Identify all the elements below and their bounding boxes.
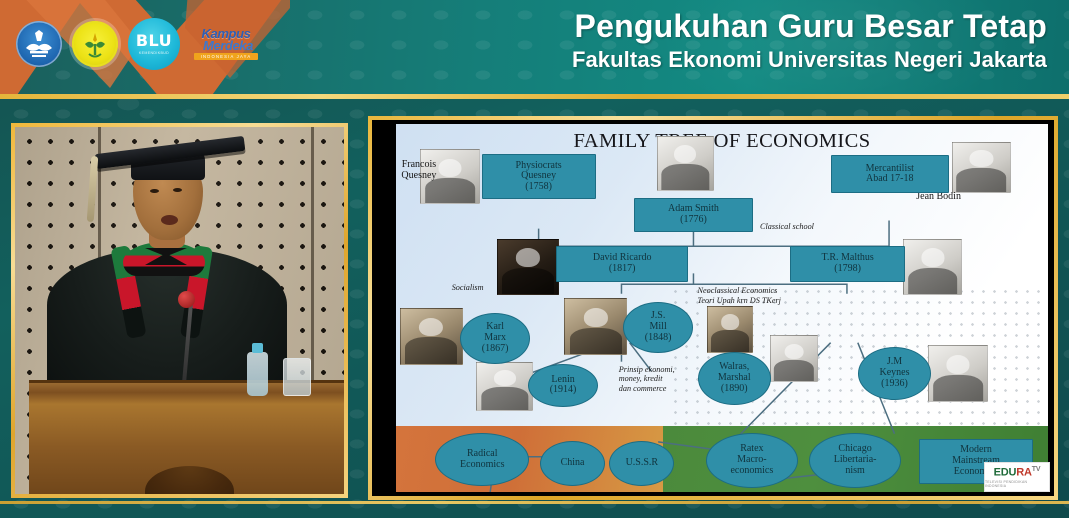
unj-emblem-icon bbox=[79, 28, 111, 60]
watermark-ra: RA bbox=[1016, 467, 1032, 479]
ricardo-portrait bbox=[497, 239, 559, 296]
drinking-glass bbox=[283, 358, 311, 396]
blu-logo-subtext: KEMENDIKBUD bbox=[139, 51, 169, 55]
kampus-merdeka-line2: Merdeka bbox=[203, 40, 253, 52]
adam-smith-portrait bbox=[657, 136, 714, 191]
wooden-podium bbox=[29, 380, 344, 494]
node-adam-smith: Adam Smith (1776) bbox=[634, 198, 754, 231]
blu-logo: BLU KEMENDIKBUD bbox=[128, 21, 180, 67]
kampus-merdeka-bar: INDONESIA JAYA bbox=[194, 53, 258, 60]
presentation-slide-feed[interactable]: FAMILY TREE OF ECONOMICS Francois Quesne… bbox=[368, 116, 1058, 500]
marshall-portrait bbox=[770, 335, 819, 382]
tut-wuri-icon bbox=[22, 27, 56, 61]
mill-portrait bbox=[564, 298, 626, 355]
eye-left bbox=[150, 189, 159, 193]
event-title: Pengukuhan Guru Besar Tetap bbox=[572, 9, 1047, 45]
unj-emblem-logo bbox=[72, 21, 118, 67]
blu-logo-text: BLU bbox=[136, 33, 172, 49]
header-title-group: Pengukuhan Guru Besar Tetap Fakultas Eko… bbox=[572, 9, 1047, 73]
lenin-portrait bbox=[476, 362, 533, 411]
walras-portrait bbox=[707, 306, 753, 353]
video-inner bbox=[15, 127, 344, 494]
event-subtitle: Fakultas Ekonomi Universitas Negeri Jaka… bbox=[572, 47, 1047, 73]
node-lenin: Lenin (1914) bbox=[528, 364, 599, 407]
node-david-ricardo: David Ricardo (1817) bbox=[556, 246, 688, 281]
node-radical-economics: Radical Economics bbox=[435, 433, 529, 486]
node-chicago-libertarianism: Chicago Libertaria- nism bbox=[809, 433, 901, 488]
node-china: China bbox=[540, 441, 605, 486]
slide-canvas: FAMILY TREE OF ECONOMICS Francois Quesne… bbox=[396, 124, 1048, 492]
node-karl-marx: Karl Marx (1867) bbox=[460, 313, 531, 364]
footer-gold-rule bbox=[0, 501, 1069, 504]
node-ratex-macro: Ratex Macro- economics bbox=[706, 433, 798, 488]
edura-tv-watermark: EDURATV TELEVISI PENDIDIKAN INDONESIA bbox=[984, 462, 1050, 492]
node-jm-keynes: J.M Keynes (1936) bbox=[858, 347, 931, 400]
watermark-subtitle: TELEVISI PENDIDIKAN INDONESIA bbox=[985, 480, 1049, 488]
node-physiocrats: Physiocrats Quesney (1758) bbox=[482, 154, 596, 199]
eye-right bbox=[173, 188, 182, 192]
malthus-portrait bbox=[903, 239, 963, 296]
speaker-video-feed[interactable] bbox=[11, 123, 348, 498]
microphone-head bbox=[178, 291, 195, 308]
header-band: BLU KEMENDIKBUD Kampus Merdeka INDONESIA… bbox=[0, 0, 1069, 99]
slide-title: FAMILY TREE OF ECONOMICS bbox=[396, 130, 1048, 153]
broadcast-screen: BLU KEMENDIKBUD Kampus Merdeka INDONESIA… bbox=[0, 0, 1069, 518]
marx-portrait bbox=[400, 308, 462, 365]
node-walras-marshal: Walras, Marshal (1890) bbox=[698, 352, 771, 405]
watermark-tv: TV bbox=[1032, 466, 1041, 473]
speaker-figure bbox=[61, 148, 276, 398]
logo-row: BLU KEMENDIKBUD Kampus Merdeka INDONESIA… bbox=[16, 19, 262, 69]
watermark-text: EDURATV bbox=[994, 466, 1041, 479]
prinsip-ekonomi-annotation: Prinsip ekonomi, money, kredit dan comme… bbox=[619, 365, 675, 394]
node-js-mill: J.S. Mill (1848) bbox=[623, 302, 694, 353]
mouth bbox=[161, 215, 178, 225]
header-gold-rule bbox=[0, 94, 1069, 99]
node-tr-malthus: T.R. Malthus (1798) bbox=[790, 246, 905, 281]
francois-quesney: Francois Quesney bbox=[401, 159, 436, 181]
jean-bodin-portrait bbox=[952, 142, 1012, 193]
watermark-edu: EDU bbox=[994, 467, 1017, 479]
node-mercantilist: Mercantilist Abad 17-18 bbox=[831, 155, 949, 193]
cap-tassel bbox=[87, 156, 99, 222]
tut-wuri-handayani-logo bbox=[16, 21, 62, 67]
water-bottle bbox=[247, 352, 268, 396]
classical-school-annotation: Classical school bbox=[760, 222, 814, 232]
socialism-annotation: Socialism bbox=[452, 283, 484, 293]
keynes-portrait bbox=[928, 345, 988, 402]
neoclassical-annotation: Neoclassical Economics Teori Upah krn DS… bbox=[698, 286, 781, 305]
kampus-merdeka-logo: Kampus Merdeka INDONESIA JAYA bbox=[190, 22, 262, 66]
